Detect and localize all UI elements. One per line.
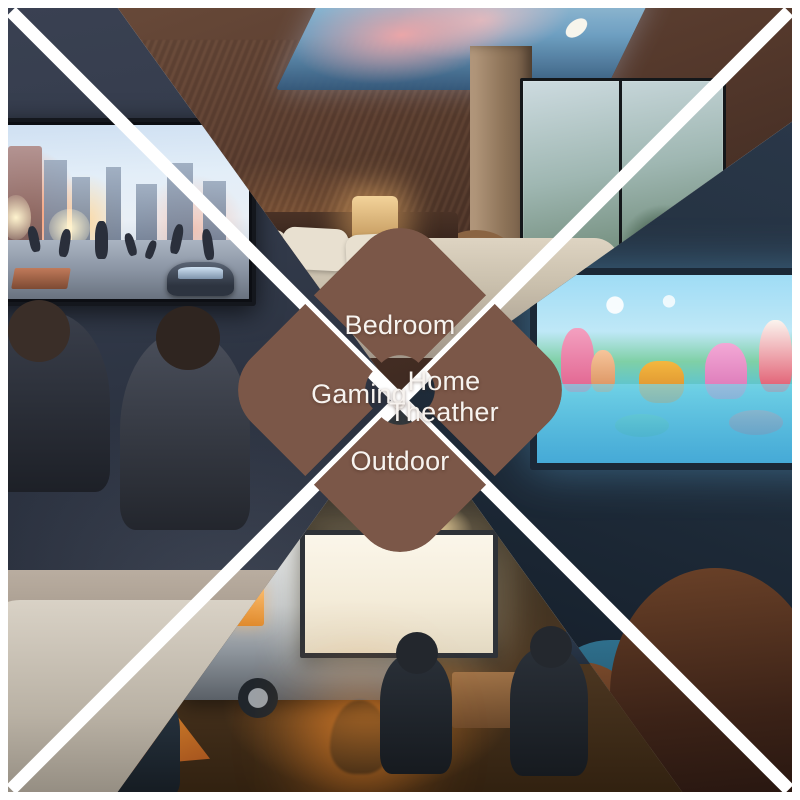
badge-label-outdoor: Outdoor — [272, 446, 528, 476]
badge-label-home-theater-line2: Theather — [389, 397, 499, 427]
gamer-player-one-head — [8, 300, 70, 362]
badge-label-bedroom: Bedroom — [272, 310, 528, 340]
gaming-tv-screen — [0, 125, 249, 299]
badge-label-home-theater-line1: Home — [408, 366, 481, 396]
gamer-player-two-head — [156, 306, 220, 370]
rv-wheel — [238, 678, 278, 718]
game-sports-car — [167, 262, 234, 295]
camper-person-head — [396, 632, 438, 674]
movie-float-ring — [615, 414, 669, 437]
game-explosion — [1, 195, 32, 240]
scenario-collage: Bedroom Gaming Home Theather Outdoor — [0, 0, 800, 800]
scenario-selector-badge[interactable]: Bedroom Gaming Home Theather Outdoor — [272, 262, 528, 518]
movie-character-dog — [639, 361, 684, 402]
camper-person-head — [530, 626, 572, 668]
ceiling-projection-art — [276, 0, 655, 90]
game-character — [95, 221, 108, 259]
movie-float-ring — [729, 410, 783, 434]
home-theater-projection-screen — [530, 268, 800, 470]
movie-character-girl — [759, 320, 792, 391]
movie-character-bear — [705, 343, 747, 399]
movie-character-child — [591, 350, 615, 391]
game-crate — [12, 268, 72, 289]
badge-label-home-theater: Home Theather — [344, 366, 544, 428]
